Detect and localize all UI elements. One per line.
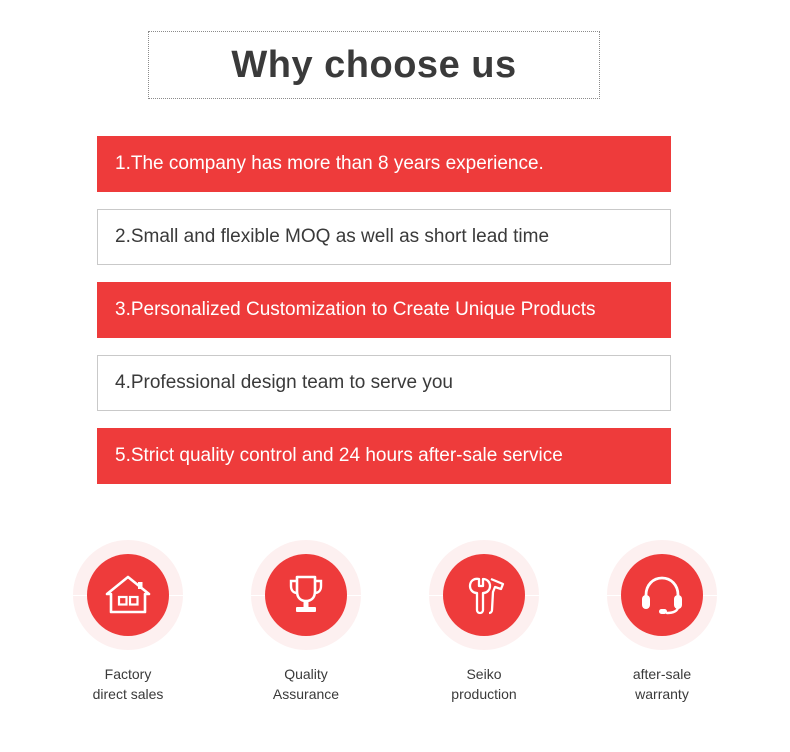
badge-label-factory: Factory direct sales — [93, 664, 164, 705]
badge-label-line1: Factory — [93, 664, 164, 684]
badge-label-line2: direct sales — [93, 684, 164, 704]
badge-halo — [429, 540, 539, 650]
badge-list: Factory direct sales — [0, 540, 790, 705]
house-icon — [105, 574, 151, 616]
feature-row-2: 2. Small and flexible MOQ as well as sho… — [97, 209, 671, 265]
badge-label-line1: Seiko — [451, 664, 516, 684]
feature-row-5: 5. Strict quality control and 24 hours a… — [97, 428, 671, 484]
badge-label-line1: Quality — [273, 664, 339, 684]
feature-row-4: 4. Professional design team to serve you — [97, 355, 671, 411]
badge-label-line1: after-sale — [633, 664, 691, 684]
feature-text-5: Strict quality control and 24 hours afte… — [131, 445, 563, 467]
badge-label-line2: production — [451, 684, 516, 704]
badge-seiko-production: Seiko production — [423, 540, 545, 705]
badge-circle — [443, 554, 525, 636]
badge-circle — [87, 554, 169, 636]
trophy-icon — [285, 573, 327, 617]
feature-number-5: 5. — [115, 445, 131, 467]
badge-after-sale-warranty: after-sale warranty — [601, 540, 723, 705]
feature-number-1: 1. — [115, 153, 131, 175]
badge-label-line2: Assurance — [273, 684, 339, 704]
feature-row-1: 1. The company has more than 8 years exp… — [97, 136, 671, 192]
badge-label-line2: warranty — [633, 684, 691, 704]
badge-halo — [607, 540, 717, 650]
feature-number-2: 2. — [115, 226, 131, 248]
badge-label-quality: Quality Assurance — [273, 664, 339, 705]
feature-text-4: Professional design team to serve you — [131, 372, 453, 394]
badge-circle — [265, 554, 347, 636]
feature-number-4: 4. — [115, 372, 131, 394]
feature-number-3: 3. — [115, 299, 131, 321]
feature-list: 1. The company has more than 8 years exp… — [97, 136, 671, 501]
feature-row-3: 3. Personalized Customization to Create … — [97, 282, 671, 338]
feature-text-3: Personalized Customization to Create Uni… — [131, 299, 596, 321]
badge-halo — [251, 540, 361, 650]
badge-quality-assurance: Quality Assurance — [245, 540, 367, 705]
badge-halo — [73, 540, 183, 650]
badge-label-after-sale: after-sale warranty — [633, 664, 691, 705]
feature-text-1: The company has more than 8 years experi… — [131, 153, 544, 175]
tools-icon — [462, 573, 506, 617]
badge-label-seiko: Seiko production — [451, 664, 516, 705]
page-title-box: Why choose us — [148, 31, 600, 99]
page-title: Why choose us — [231, 46, 516, 84]
headset-icon — [639, 574, 685, 616]
badge-factory-direct-sales: Factory direct sales — [67, 540, 189, 705]
badge-circle — [621, 554, 703, 636]
feature-text-2: Small and flexible MOQ as well as short … — [131, 226, 549, 248]
why-choose-us-page: Why choose us 1. The company has more th… — [0, 0, 790, 752]
